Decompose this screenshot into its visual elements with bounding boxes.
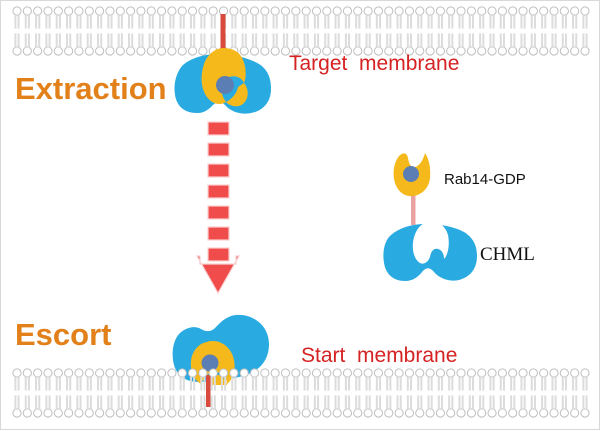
lipid-molecule	[250, 395, 258, 417]
arrow-dash-segment	[208, 122, 229, 135]
lipid-molecule	[168, 7, 176, 29]
lipid-molecule	[540, 395, 548, 417]
lipid-molecule	[436, 369, 444, 391]
lipid-molecule	[250, 369, 258, 391]
lipid-molecule	[374, 369, 382, 391]
lipid-molecule	[498, 7, 506, 29]
lipid-molecule	[147, 7, 155, 29]
rab14-gdp-label: Rab14-GDP	[444, 172, 526, 187]
lipid-molecule	[374, 7, 382, 29]
start-membrane-label: Start membrane	[301, 345, 457, 366]
lipid-molecule	[550, 395, 558, 417]
lipid-molecule	[426, 7, 434, 29]
lipid-molecule	[560, 395, 568, 417]
lipid-molecule	[405, 369, 413, 391]
lipid-molecule	[240, 33, 248, 55]
free-chml-molecule	[383, 221, 477, 281]
lipid-molecule	[478, 33, 486, 55]
lipid-molecule	[127, 7, 135, 29]
lipid-molecule	[188, 395, 196, 417]
lipid-molecule	[178, 369, 186, 391]
lipid-molecule	[540, 369, 548, 391]
lipid-molecule	[385, 369, 393, 391]
lipid-molecule	[127, 369, 135, 391]
arrow-dash-segment	[208, 206, 229, 219]
lipid-molecule	[343, 7, 351, 29]
gdp-nucleotide-free-icon	[403, 166, 419, 182]
lipid-molecule	[65, 369, 73, 391]
stage-label-extraction: Extraction	[15, 73, 167, 104]
lipid-molecule	[209, 7, 217, 29]
lipid-molecule	[354, 395, 362, 417]
lipid-molecule	[457, 395, 465, 417]
lipid-molecule	[581, 369, 589, 391]
lipid-molecule	[343, 395, 351, 417]
lipid-molecule	[44, 33, 52, 55]
lipid-molecule	[478, 369, 486, 391]
lipid-molecule	[498, 33, 506, 55]
lipid-molecule	[354, 7, 362, 29]
lipid-molecule	[571, 33, 579, 55]
lipid-molecule	[571, 7, 579, 29]
lipid-molecule	[292, 369, 300, 391]
lipid-molecule	[65, 33, 73, 55]
lipid-molecule	[581, 7, 589, 29]
lipid-molecule	[54, 7, 62, 29]
lipid-molecule	[550, 7, 558, 29]
lipid-molecule	[250, 7, 258, 29]
lipid-molecule	[281, 369, 289, 391]
extraction-complex	[174, 14, 271, 114]
lipid-molecule	[447, 369, 455, 391]
lipid-molecule	[281, 395, 289, 417]
lipid-molecule	[137, 33, 145, 55]
arrow-dash-segment	[208, 185, 229, 198]
rab14-prenyl-tail-icon	[411, 193, 416, 225]
lipid-molecule	[137, 369, 145, 391]
lipid-molecule	[529, 369, 537, 391]
lipid-molecule	[323, 369, 331, 391]
lipid-molecule	[519, 395, 527, 417]
lipid-molecule	[560, 33, 568, 55]
lipid-molecule	[426, 395, 434, 417]
lipid-molecule	[364, 395, 372, 417]
lipid-molecule	[333, 7, 341, 29]
lipid-molecule	[426, 369, 434, 391]
lipid-molecule	[106, 395, 114, 417]
lipid-molecule	[137, 7, 145, 29]
lipid-molecule	[364, 369, 372, 391]
lipid-molecule	[436, 7, 444, 29]
lipid-molecule	[157, 33, 165, 55]
lipid-molecule	[65, 395, 73, 417]
lipid-molecule	[23, 395, 31, 417]
lipid-molecule	[343, 369, 351, 391]
lipid-molecule	[509, 33, 517, 55]
lipid-molecule	[498, 369, 506, 391]
lipid-molecule	[178, 7, 186, 29]
lipid-molecule	[385, 7, 393, 29]
lipid-molecule	[147, 33, 155, 55]
lipid-molecule	[261, 7, 269, 29]
lipid-molecule	[385, 395, 393, 417]
lipid-molecule	[550, 33, 558, 55]
lipid-molecule	[127, 33, 135, 55]
lipid-molecule	[44, 395, 52, 417]
lipid-molecule	[127, 395, 135, 417]
target-membrane-bilayer	[13, 7, 589, 55]
lipid-molecule	[416, 7, 424, 29]
lipid-molecule	[436, 395, 444, 417]
lipid-molecule	[571, 395, 579, 417]
lipid-molecule	[302, 7, 310, 29]
lipid-molecule	[261, 369, 269, 391]
lipid-molecule	[478, 395, 486, 417]
lipid-molecule	[467, 7, 475, 29]
lipid-molecule	[519, 33, 527, 55]
extraction-to-escort-arrow	[197, 122, 246, 293]
lipid-molecule	[405, 395, 413, 417]
lipid-molecule	[529, 395, 537, 417]
lipid-molecule	[106, 33, 114, 55]
arrow-dash-segments	[208, 122, 229, 261]
lipid-molecule	[271, 395, 279, 417]
start-membrane-bilayer	[13, 369, 589, 417]
lipid-molecule	[230, 395, 238, 417]
lipid-molecule	[147, 369, 155, 391]
lipid-molecule	[302, 369, 310, 391]
lipid-molecule	[75, 395, 83, 417]
lipid-molecule	[550, 369, 558, 391]
lipid-molecule	[509, 7, 517, 29]
lipid-molecule	[230, 7, 238, 29]
lipid-molecule	[333, 395, 341, 417]
lipid-molecule	[188, 7, 196, 29]
lipid-molecule	[560, 369, 568, 391]
lipid-molecule	[467, 369, 475, 391]
lipid-molecule	[240, 369, 248, 391]
stage-label-escort: Escort	[15, 319, 111, 350]
lipid-molecule	[364, 7, 372, 29]
lipid-molecule	[96, 369, 104, 391]
lipid-molecule	[85, 395, 93, 417]
lipid-molecule	[178, 33, 186, 55]
lipid-molecule	[509, 395, 517, 417]
lipid-molecule	[147, 395, 155, 417]
lipid-molecule	[23, 369, 31, 391]
lipid-molecule	[447, 7, 455, 29]
lipid-molecule	[96, 395, 104, 417]
lipid-molecule	[571, 369, 579, 391]
lipid-molecule	[23, 7, 31, 29]
lipid-molecule	[240, 395, 248, 417]
lipid-molecule	[354, 369, 362, 391]
lipid-molecule	[219, 395, 227, 417]
lipid-molecule	[75, 33, 83, 55]
lipid-molecule	[581, 395, 589, 417]
lipid-molecule	[34, 33, 42, 55]
lipid-molecule	[116, 369, 124, 391]
lipid-molecule	[250, 33, 258, 55]
lipid-molecule	[519, 7, 527, 29]
lipid-molecule	[292, 7, 300, 29]
lipid-molecule	[281, 7, 289, 29]
lipid-molecule	[529, 33, 537, 55]
lipid-molecule	[54, 395, 62, 417]
lipid-molecule	[96, 7, 104, 29]
lipid-molecule	[13, 7, 21, 29]
lipid-molecule	[416, 395, 424, 417]
lipid-molecule	[199, 7, 207, 29]
lipid-molecule	[44, 369, 52, 391]
lipid-molecule	[395, 369, 403, 391]
lipid-molecule	[312, 7, 320, 29]
lipid-molecule	[65, 7, 73, 29]
lipid-molecule	[467, 33, 475, 55]
lipid-molecule	[157, 369, 165, 391]
lipid-molecule	[75, 369, 83, 391]
lipid-molecule	[488, 7, 496, 29]
free-rab14-gdp-molecule	[394, 153, 431, 225]
lipid-molecule	[457, 7, 465, 29]
lipid-molecule	[312, 395, 320, 417]
lipid-molecule	[560, 7, 568, 29]
lipid-molecule	[85, 33, 93, 55]
lipid-molecule	[116, 395, 124, 417]
prenyl-anchor-bottom-icon	[206, 375, 211, 407]
lipid-molecule	[54, 33, 62, 55]
lipid-molecule	[540, 7, 548, 29]
arrow-dash-segment	[208, 164, 229, 177]
chml-label: CHML	[480, 245, 535, 264]
lipid-molecule	[581, 33, 589, 55]
lipid-molecule	[199, 33, 207, 55]
lipid-molecule	[498, 395, 506, 417]
start-membrane-inner-leaflet	[13, 395, 589, 417]
lipid-molecule	[85, 369, 93, 391]
arrow-dash-segment	[208, 248, 229, 261]
lipid-molecule	[529, 7, 537, 29]
arrow-dash-segment	[208, 227, 229, 240]
lipid-molecule	[34, 7, 42, 29]
lipid-molecule	[271, 33, 279, 55]
lipid-molecule	[447, 395, 455, 417]
lipid-molecule	[44, 7, 52, 29]
lipid-molecule	[13, 33, 21, 55]
lipid-molecule	[333, 369, 341, 391]
lipid-molecule	[168, 369, 176, 391]
lipid-molecule	[157, 395, 165, 417]
lipid-molecule	[323, 7, 331, 29]
lipid-molecule	[96, 33, 104, 55]
lipid-molecule	[157, 7, 165, 29]
lipid-molecule	[374, 395, 382, 417]
lipid-molecule	[519, 369, 527, 391]
lipid-molecule	[13, 369, 21, 391]
lipid-molecule	[34, 395, 42, 417]
lipid-molecule	[116, 7, 124, 29]
escort-complex	[173, 315, 269, 407]
lipid-molecule	[467, 395, 475, 417]
arrow-dash-segment	[208, 143, 229, 156]
target-membrane-outer-leaflet	[13, 7, 589, 29]
lipid-molecule	[13, 395, 21, 417]
lipid-molecule	[457, 369, 465, 391]
figure-canvas: Extraction Target membrane Rab14-GDP CHM…	[0, 0, 600, 430]
lipid-molecule	[168, 395, 176, 417]
lipid-molecule	[509, 369, 517, 391]
lipid-molecule	[261, 33, 269, 55]
lipid-molecule	[271, 7, 279, 29]
lipid-molecule	[488, 395, 496, 417]
lipid-molecule	[106, 369, 114, 391]
lipid-molecule	[395, 395, 403, 417]
lipid-molecule	[302, 395, 310, 417]
lipid-molecule	[240, 7, 248, 29]
lipid-molecule	[292, 395, 300, 417]
lipid-molecule	[75, 7, 83, 29]
lipid-molecule	[116, 33, 124, 55]
lipid-molecule	[488, 33, 496, 55]
lipid-molecule	[23, 33, 31, 55]
lipid-molecule	[312, 369, 320, 391]
lipid-molecule	[405, 7, 413, 29]
lipid-molecule	[230, 369, 238, 391]
lipid-molecule	[478, 7, 486, 29]
lipid-molecule	[178, 395, 186, 417]
gdp-nucleotide-icon	[216, 76, 234, 94]
lipid-molecule	[271, 369, 279, 391]
start-membrane-outer-leaflet	[13, 369, 589, 391]
lipid-molecule	[34, 369, 42, 391]
lipid-molecule	[106, 7, 114, 29]
lipid-molecule	[323, 395, 331, 417]
lipid-molecule	[261, 395, 269, 417]
lipid-molecule	[188, 33, 196, 55]
lipid-molecule	[488, 369, 496, 391]
target-membrane-label: Target membrane	[289, 53, 459, 74]
lipid-molecule	[199, 395, 207, 417]
lipid-molecule	[540, 33, 548, 55]
lipid-molecule	[168, 33, 176, 55]
lipid-molecule	[395, 7, 403, 29]
lipid-molecule	[85, 7, 93, 29]
lipid-molecule	[416, 369, 424, 391]
lipid-molecule	[137, 395, 145, 417]
lipid-molecule	[54, 369, 62, 391]
